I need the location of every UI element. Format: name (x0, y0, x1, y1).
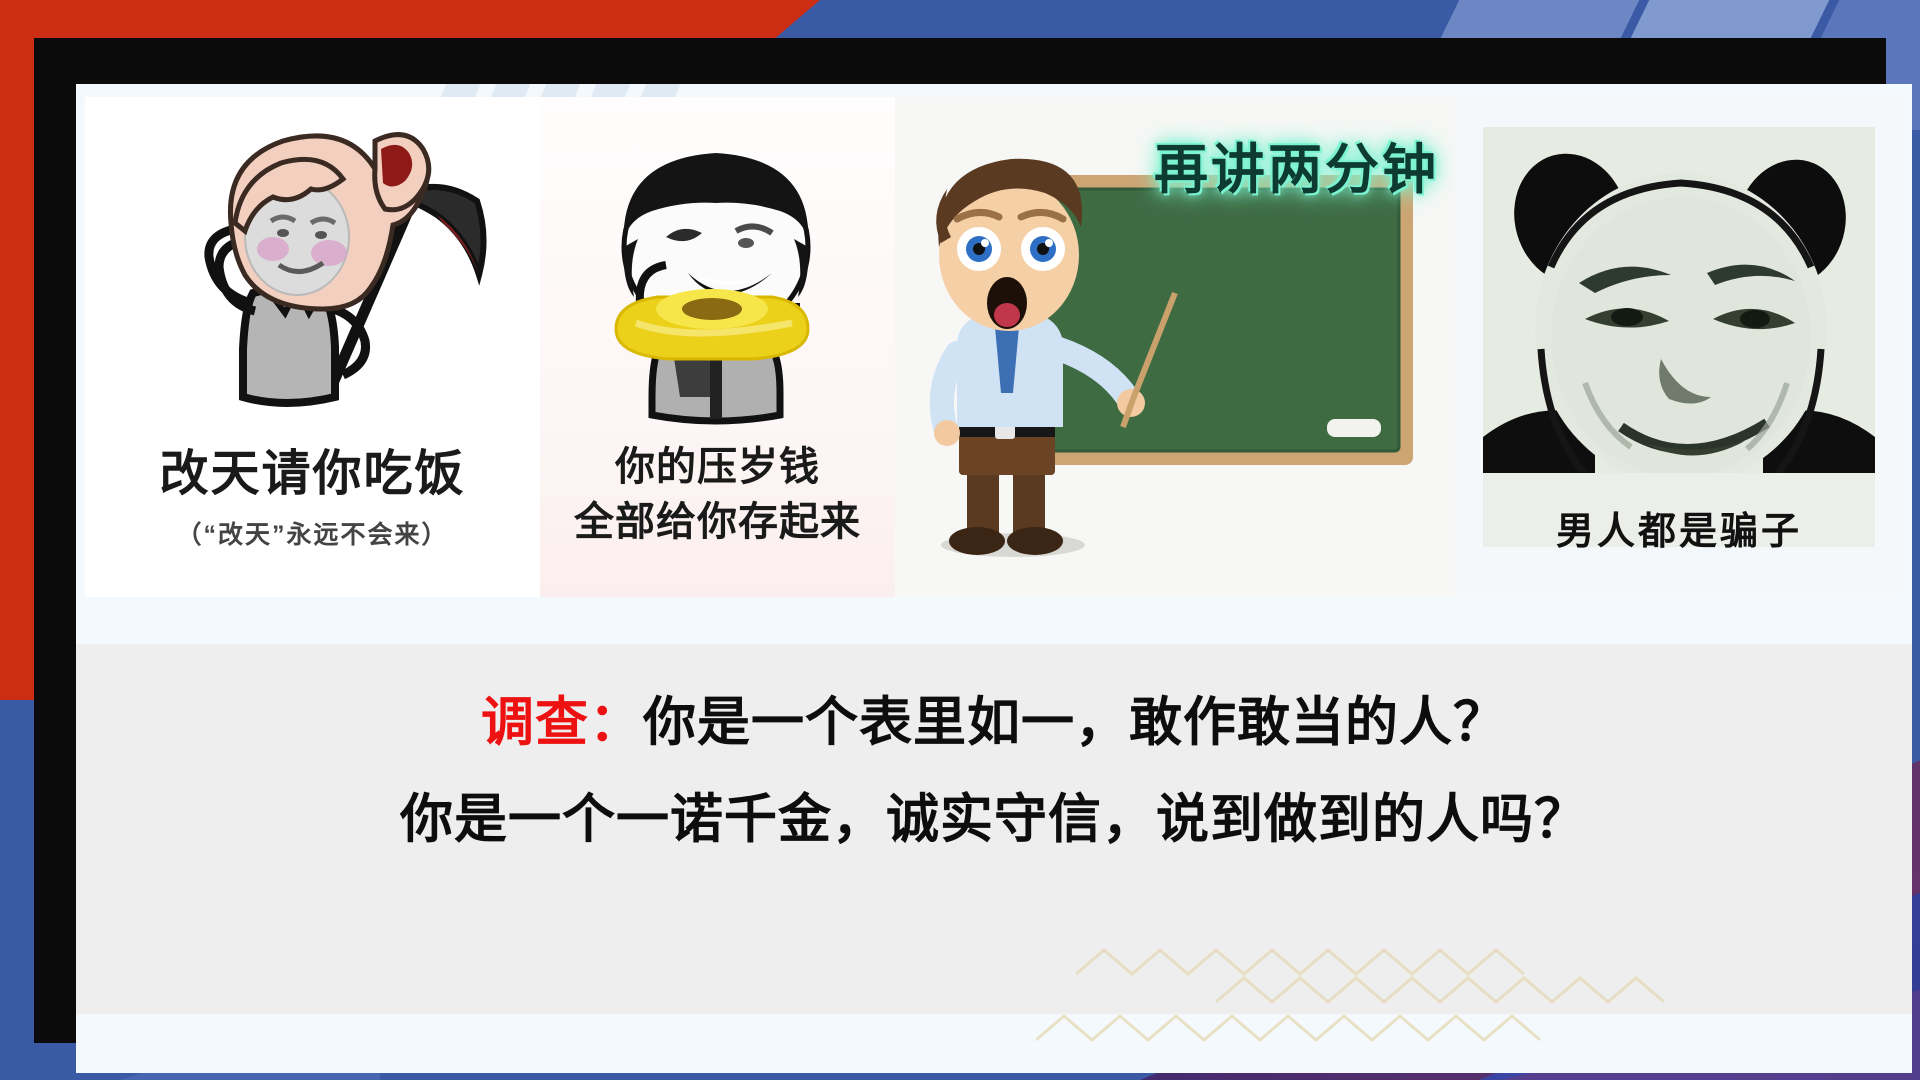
meme-caption-main: 改天请你吃饭 (85, 434, 540, 505)
question-line-2: 你是一个一诺千金，诚实守信，说到做到的人吗？ (76, 781, 1912, 858)
meme-bowlcut-ingot[interactable]: 你的压岁钱 全部给你存起来 (540, 97, 895, 597)
bowlcut-ingot-illustration (540, 97, 895, 457)
slide-card-frame: 改天请你吃饭 （“改天”永远不会来） (34, 38, 1886, 1043)
meme-caption-main: 男人都是骗子 (1455, 500, 1903, 555)
girl-pickaxe-illustration (85, 97, 540, 457)
meme-caption-line2: 全部给你存起来 (540, 489, 895, 547)
meme-image-row: 改天请你吃饭 （“改天”永远不会来） (85, 97, 1903, 597)
meme-panda-head[interactable]: 男人都是骗子 (1455, 97, 1903, 597)
meme-girl-pickaxe[interactable]: 改天请你吃饭 （“改天”永远不会来） (85, 97, 540, 597)
question-text-block: 调查：你是一个表里如一，敢作敢当的人？ 你是一个一诺千金，诚实守信，说到做到的人… (76, 684, 1912, 859)
question-line-1-text: 你是一个表里如一，敢作敢当的人？ (643, 692, 1507, 753)
meme-teacher-blackboard[interactable]: 再讲两分钟 (895, 97, 1455, 597)
slide-root: 改天请你吃饭 （“改天”永远不会来） (0, 0, 1920, 1080)
meme-caption-sub: （“改天”永远不会来） (85, 515, 540, 551)
question-line-1: 调查：你是一个表里如一，敢作敢当的人？ (76, 684, 1912, 761)
meme-caption-line1: 你的压岁钱 (540, 434, 895, 492)
slide-card: 改天请你吃饭 （“改天”永远不会来） (76, 84, 1912, 1073)
survey-label: 调查： (481, 692, 643, 753)
meme-caption-main: 再讲两分钟 (895, 125, 1439, 204)
zigzag-decoration (1036, 1012, 1656, 1046)
